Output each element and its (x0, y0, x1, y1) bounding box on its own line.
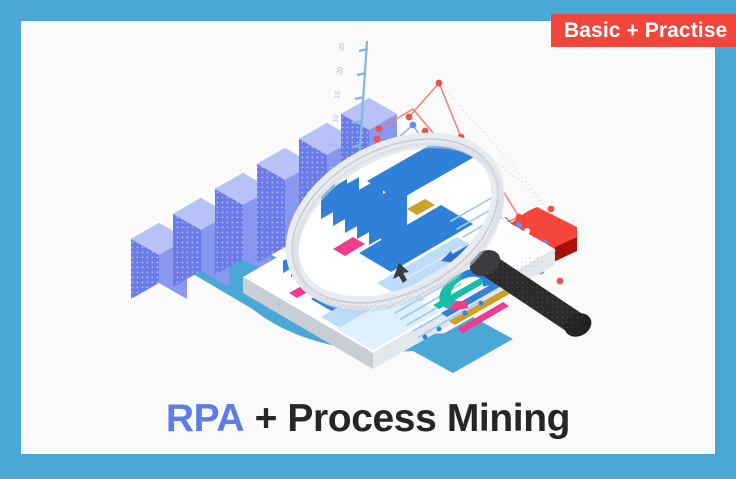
card-inner-surface: 25 20 15 10 5 0 (21, 21, 715, 454)
title-rest: + Process Mining (244, 397, 570, 440)
svg-text:10: 10 (332, 114, 340, 123)
promo-card: 25 20 15 10 5 0 (0, 0, 736, 479)
page-title: RPA + Process Mining (21, 397, 715, 441)
svg-text:20: 20 (336, 66, 344, 75)
status-badge: Basic + Practise (551, 14, 736, 47)
svg-text:15: 15 (334, 90, 342, 99)
svg-text:25: 25 (338, 42, 346, 51)
illustration-canvas: 25 20 15 10 5 0 (21, 21, 715, 381)
title-accent: RPA (166, 397, 244, 440)
